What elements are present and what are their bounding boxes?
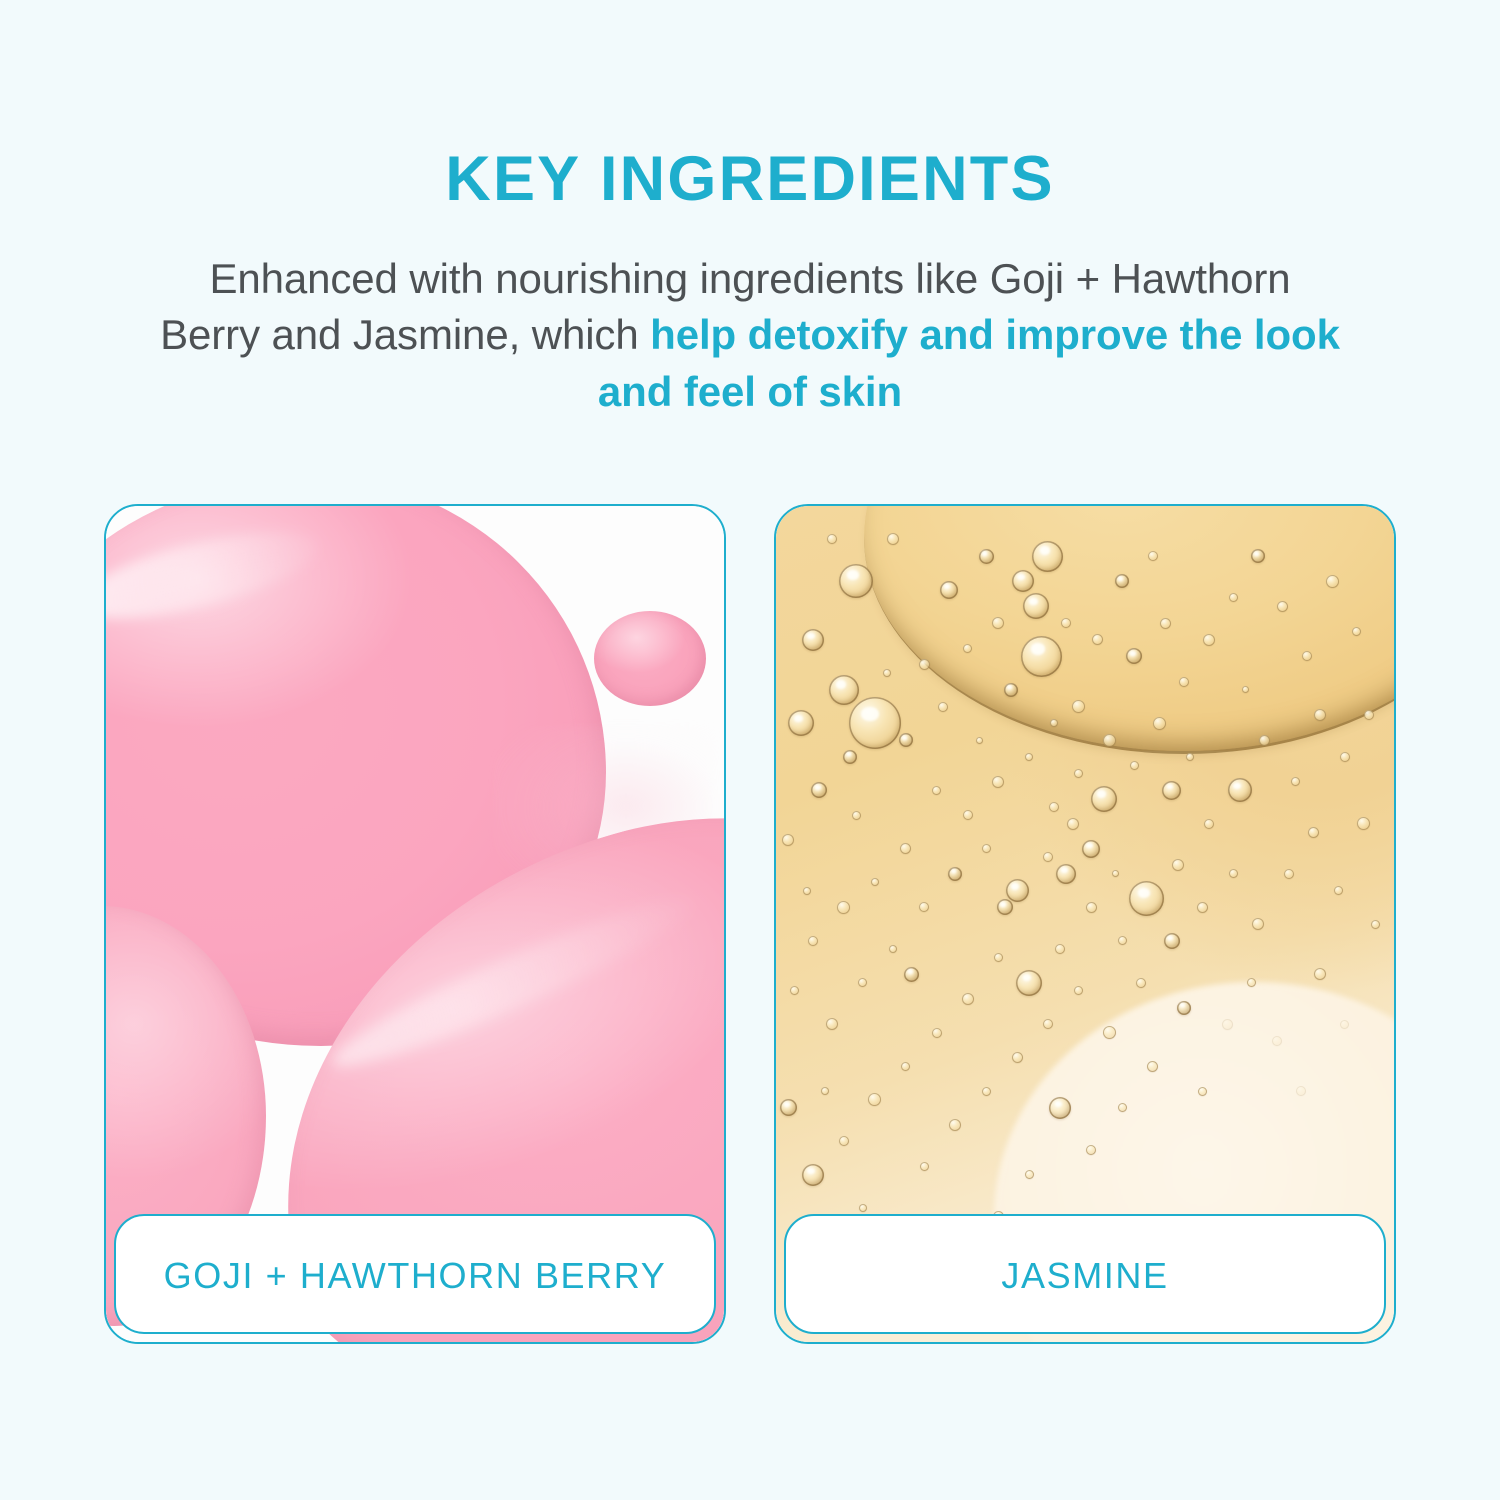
oil-bubble	[1177, 1001, 1191, 1015]
oil-bubble	[1153, 717, 1166, 730]
oil-bubble	[900, 843, 911, 854]
oil-bubble	[920, 1162, 929, 1171]
oil-bubble	[883, 669, 891, 677]
oil-bubble	[1308, 827, 1319, 838]
oil-bubble	[859, 1204, 867, 1212]
oil-bubble	[1136, 978, 1146, 988]
oil-bubble	[843, 750, 857, 764]
card-label-panel-jasmine: JASMINE	[784, 1214, 1386, 1334]
oil-bubble	[1043, 852, 1053, 862]
pink-droplet-small-top-right	[594, 611, 706, 706]
oil-bubble	[1055, 944, 1065, 954]
page-title: KEY INGREDIENTS	[0, 148, 1500, 211]
card-label-panel-goji: GOJI + HAWTHORN BERRY	[114, 1214, 716, 1334]
oil-bubble	[780, 1099, 797, 1116]
oil-bubble	[829, 675, 859, 705]
oil-bubble	[1340, 752, 1350, 762]
oil-bubble	[932, 1028, 942, 1038]
oil-bubble	[899, 733, 913, 747]
oil-bubble	[1186, 753, 1194, 761]
oil-bubble	[1160, 618, 1171, 629]
oil-bubble	[1259, 735, 1270, 746]
oil-bubble	[1314, 709, 1326, 721]
oil-bubble	[849, 697, 901, 749]
oil-bubble	[1112, 870, 1119, 877]
oil-bubble	[1340, 1020, 1349, 1029]
oil-bubble	[1272, 1036, 1282, 1046]
oil-bubble	[790, 986, 799, 995]
header: KEY INGREDIENTS Enhanced with nourishing…	[0, 0, 1500, 420]
oil-bubble	[889, 945, 897, 953]
oil-bubble	[1023, 593, 1049, 619]
oil-bubble	[1130, 761, 1139, 770]
oil-bubble	[1314, 968, 1326, 980]
key-ingredients-page: KEY INGREDIENTS Enhanced with nourishing…	[0, 0, 1500, 1500]
card-label-text: GOJI + HAWTHORN BERRY	[164, 1252, 667, 1296]
oil-bubble	[1067, 818, 1079, 830]
ingredient-card-jasmine[interactable]: JASMINE	[774, 504, 1396, 1344]
oil-bubble	[1179, 677, 1189, 687]
oil-bubble	[808, 936, 818, 946]
oil-bubble	[802, 629, 824, 651]
oil-bubble	[837, 901, 850, 914]
oil-bubble	[1049, 802, 1059, 812]
oil-bubble	[1204, 819, 1214, 829]
oil-bubble	[788, 710, 814, 736]
oil-bubble	[949, 1119, 961, 1131]
oil-bubble	[997, 899, 1013, 915]
oil-bubble	[1016, 970, 1042, 996]
oil-bubble	[1082, 840, 1100, 858]
oil-bubble	[1172, 859, 1184, 871]
oil-bubble	[1277, 601, 1288, 612]
oil-bubble	[963, 810, 973, 820]
oil-bubble	[1228, 778, 1252, 802]
oil-bubble	[1118, 936, 1127, 945]
oil-bubble	[1291, 777, 1300, 786]
oil-bubble	[1118, 1103, 1127, 1112]
oil-bubble	[1074, 769, 1083, 778]
oil-bubble	[962, 993, 974, 1005]
ingredient-card-goji-hawthorn-berry[interactable]: GOJI + HAWTHORN BERRY	[104, 504, 726, 1344]
oil-bubble	[982, 1087, 991, 1096]
oil-bubble	[1371, 920, 1380, 929]
oil-bubble	[1162, 781, 1181, 800]
oil-bubble	[821, 1087, 829, 1095]
oil-bubble	[1086, 1145, 1096, 1155]
oil-bubble	[1129, 881, 1164, 916]
oil-bubble	[948, 867, 962, 881]
oil-bubble	[904, 967, 919, 982]
oil-bubble	[868, 1093, 881, 1106]
oil-bubble	[1012, 1052, 1023, 1063]
oil-bubble	[919, 659, 930, 670]
oil-bubble	[994, 953, 1003, 962]
oil-bubble	[1164, 933, 1180, 949]
oil-bubble	[1364, 710, 1374, 720]
oil-bubble	[1198, 1087, 1207, 1096]
oil-bubble	[1004, 683, 1018, 697]
oil-bubble	[1326, 575, 1339, 588]
oil-bubble	[932, 786, 941, 795]
oil-bubble	[1043, 1019, 1053, 1029]
oil-bubble	[940, 581, 958, 599]
oil-bubble	[839, 1136, 849, 1146]
oil-bubble	[1086, 902, 1097, 913]
oil-bubble	[1074, 986, 1083, 995]
oil-bubble	[979, 549, 994, 564]
oil-bubble	[1222, 1019, 1233, 1030]
card-label-text: JASMINE	[1001, 1252, 1168, 1296]
oil-bubble	[1229, 869, 1238, 878]
oil-bubble	[1032, 541, 1063, 572]
page-subtitle: Enhanced with nourishing ingredients lik…	[160, 211, 1340, 420]
oil-bubble	[1334, 886, 1343, 895]
oil-bubble	[992, 776, 1004, 788]
oil-bubble	[803, 887, 811, 895]
oil-bubble	[1252, 918, 1264, 930]
oil-bubble	[982, 844, 991, 853]
oil-bubble	[1049, 1097, 1071, 1119]
oil-bubble	[802, 1164, 824, 1186]
oil-bubble	[839, 564, 873, 598]
oil-bubble	[1056, 864, 1076, 884]
subtitle-accent-text: help detoxify and improve the look and f…	[598, 311, 1340, 414]
oil-bubble	[782, 834, 794, 846]
oil-bubble	[811, 782, 827, 798]
oil-bubble	[1021, 636, 1062, 677]
oil-bubble	[901, 1062, 910, 1071]
oil-bubble	[852, 811, 861, 820]
oil-bubble	[938, 702, 948, 712]
oil-bubble	[1197, 902, 1208, 913]
oil-bubble	[1091, 786, 1117, 812]
oil-bubble	[976, 737, 983, 744]
oil-bubble	[1025, 753, 1033, 761]
ingredient-cards: GOJI + HAWTHORN BERRY JASMINE	[104, 504, 1396, 1344]
oil-bubble	[858, 978, 867, 987]
oil-bubble	[871, 878, 879, 886]
oil-bubble	[1103, 734, 1116, 747]
oil-bubble	[827, 534, 837, 544]
oil-bubble	[1006, 879, 1029, 902]
oil-bubble	[919, 902, 929, 912]
oil-bubble	[1284, 869, 1294, 879]
oil-bubble	[826, 1018, 838, 1030]
oil-bubble	[1203, 634, 1215, 646]
oil-bubble	[963, 644, 972, 653]
oil-bubble	[1357, 817, 1370, 830]
